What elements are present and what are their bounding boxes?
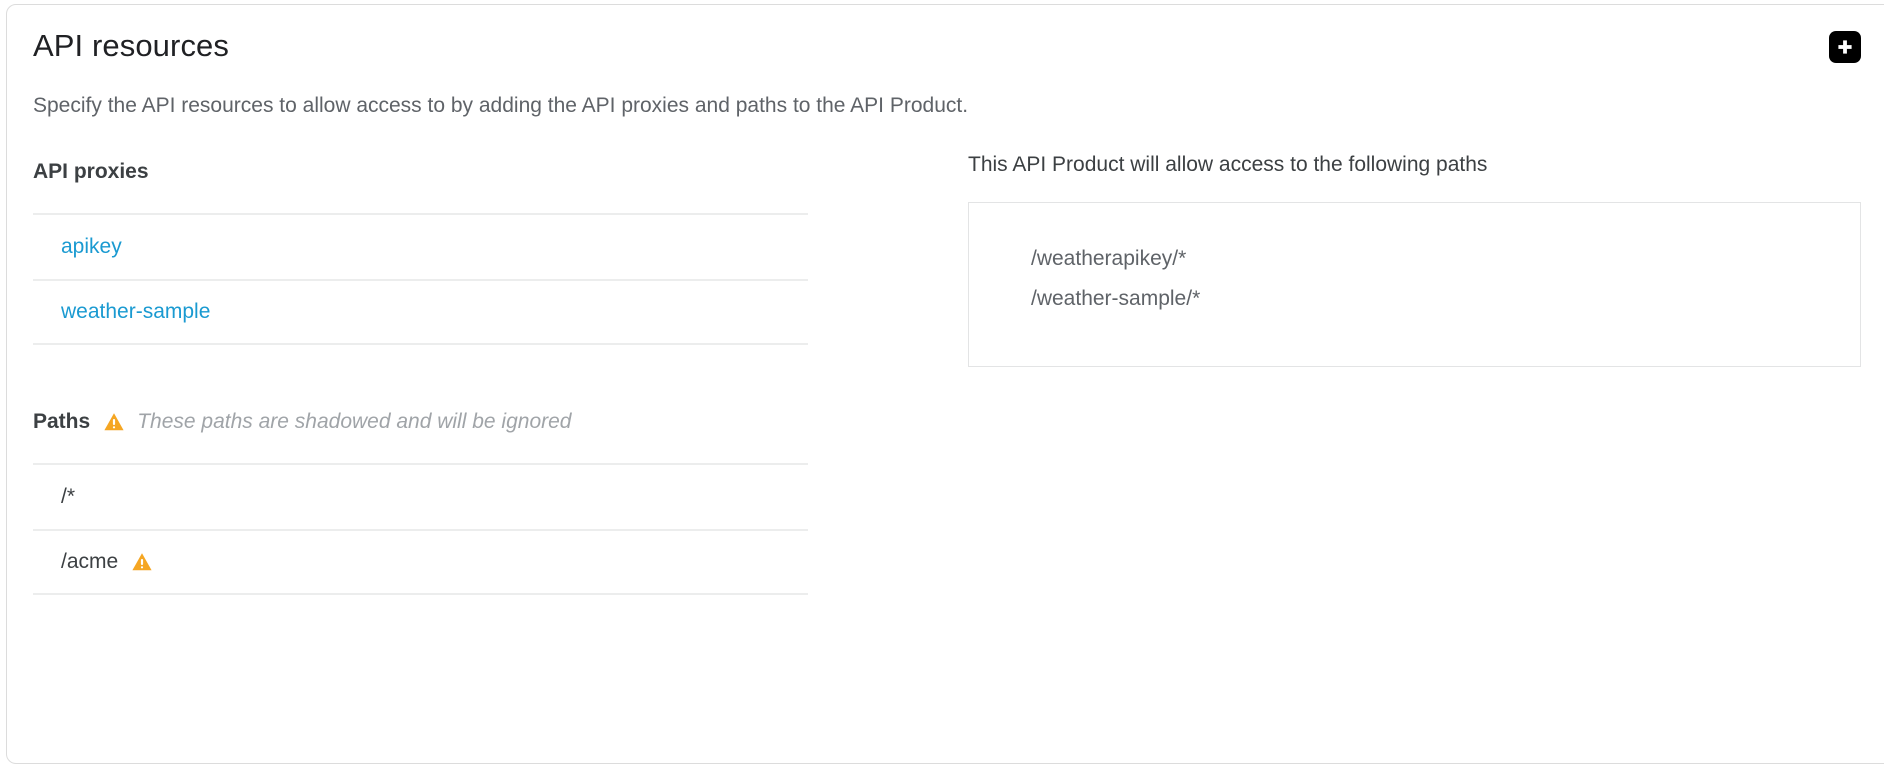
- api-proxies-heading-label: API proxies: [33, 155, 149, 189]
- warning-icon: [103, 411, 125, 433]
- list-item[interactable]: weather-sample: [33, 279, 808, 345]
- page-description: Specify the API resources to allow acces…: [33, 94, 968, 118]
- paths-shadowed-note: These paths are shadowed and will be ign…: [137, 405, 571, 439]
- allowed-path-item: /weather-sample/*: [1031, 279, 1860, 319]
- right-column: This API Product will allow access to th…: [968, 153, 1868, 367]
- api-proxy-link[interactable]: weather-sample: [61, 300, 210, 324]
- api-resources-card: API resources Specify the API resources …: [6, 4, 1884, 764]
- api-proxy-link[interactable]: apikey: [61, 235, 122, 259]
- list-item[interactable]: apikey: [33, 213, 808, 279]
- page-title: API resources: [33, 28, 229, 64]
- paths-heading-label: Paths: [33, 405, 90, 439]
- path-label: /acme: [61, 550, 118, 574]
- plus-icon: [1835, 37, 1855, 57]
- list-item[interactable]: /*: [33, 463, 808, 529]
- api-proxies-list: apikey weather-sample: [33, 213, 808, 345]
- paths-heading: Paths These paths are shadowed and will …: [33, 405, 813, 439]
- warning-icon: [131, 551, 153, 573]
- path-label: /*: [61, 485, 75, 509]
- api-proxies-heading: API proxies: [33, 155, 813, 189]
- list-item[interactable]: /acme: [33, 529, 808, 595]
- allowed-path-item: /weatherapikey/*: [1031, 239, 1860, 279]
- add-resource-button[interactable]: [1829, 31, 1861, 63]
- allowed-paths-label: This API Product will allow access to th…: [968, 153, 1868, 177]
- left-column: API proxies apikey weather-sample Paths …: [33, 155, 813, 595]
- allowed-paths-box: /weatherapikey/* /weather-sample/*: [968, 202, 1861, 367]
- paths-list: /* /acme: [33, 463, 808, 595]
